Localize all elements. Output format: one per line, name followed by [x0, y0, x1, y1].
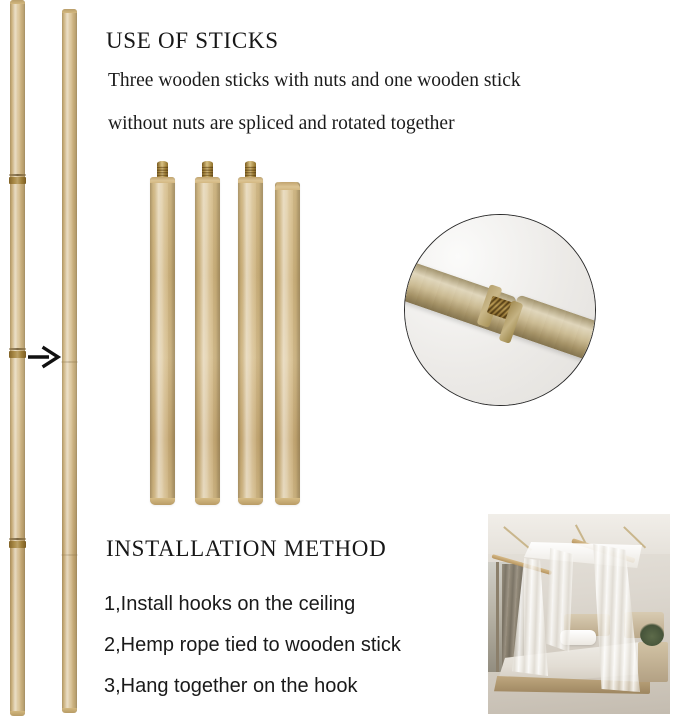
stick-3-nut-icon — [245, 164, 256, 178]
pole-bottom-cap — [10, 711, 25, 716]
stick-1-nut-cap — [157, 161, 168, 166]
disassembled-pole — [10, 0, 25, 716]
bedroom-nightstand — [638, 642, 668, 682]
bedroom-canopy-photo — [488, 514, 670, 714]
stick-1 — [150, 177, 175, 505]
use-of-sticks-line-2: without nuts are spliced and rotated tog… — [108, 113, 455, 135]
stick-3-nut-cap — [245, 161, 256, 166]
right-arrow-icon — [28, 344, 62, 370]
installation-step-2: 2,Hemp rope tied to wooden stick — [104, 634, 401, 657]
stick-1-bottom — [150, 498, 175, 505]
installation-step-1: 1,Install hooks on the ceiling — [104, 593, 355, 616]
pole-top-cap — [10, 0, 25, 4]
assembled-pole — [62, 9, 77, 713]
pole-joint-nut-middle — [9, 351, 26, 358]
stick-1-nut-icon — [157, 164, 168, 178]
assembled-pole-bottom-cap — [62, 708, 77, 713]
stick-3-top — [238, 177, 263, 183]
use-of-sticks-heading: USE OF STICKS — [106, 28, 279, 54]
installation-step-3: 3,Hang together on the hook — [104, 675, 358, 698]
stick-2 — [195, 177, 220, 505]
assembled-pole-faint-seam-upper — [61, 361, 78, 363]
stick-2-nut-cap — [202, 161, 213, 166]
assembled-pole-top-cap — [62, 9, 77, 13]
stick-4-bottom — [275, 498, 300, 505]
pole-seam-upper — [9, 174, 26, 176]
bedroom-window-frame — [496, 562, 499, 672]
use-of-sticks-line-1: Three wooden sticks with nuts and one wo… — [108, 70, 521, 92]
stick-3-bottom — [238, 498, 263, 505]
stick-1-top — [150, 177, 175, 183]
stick-2-bottom — [195, 498, 220, 505]
pole-seam-lower — [9, 538, 26, 540]
joint-detail-photo — [404, 214, 596, 406]
assembled-pole-faint-seam-lower — [61, 554, 78, 556]
pole-joint-nut-upper — [9, 177, 26, 184]
installation-method-heading: INSTALLATION METHOD — [106, 536, 386, 562]
stick-3 — [238, 177, 263, 505]
pole-joint-nut-lower — [9, 541, 26, 548]
pole-seam-middle — [9, 348, 26, 350]
stick-4-top — [275, 182, 300, 190]
stick-2-top — [195, 177, 220, 183]
stick-2-nut-icon — [202, 164, 213, 178]
stick-4 — [275, 182, 300, 505]
bedroom-plant — [640, 622, 664, 646]
